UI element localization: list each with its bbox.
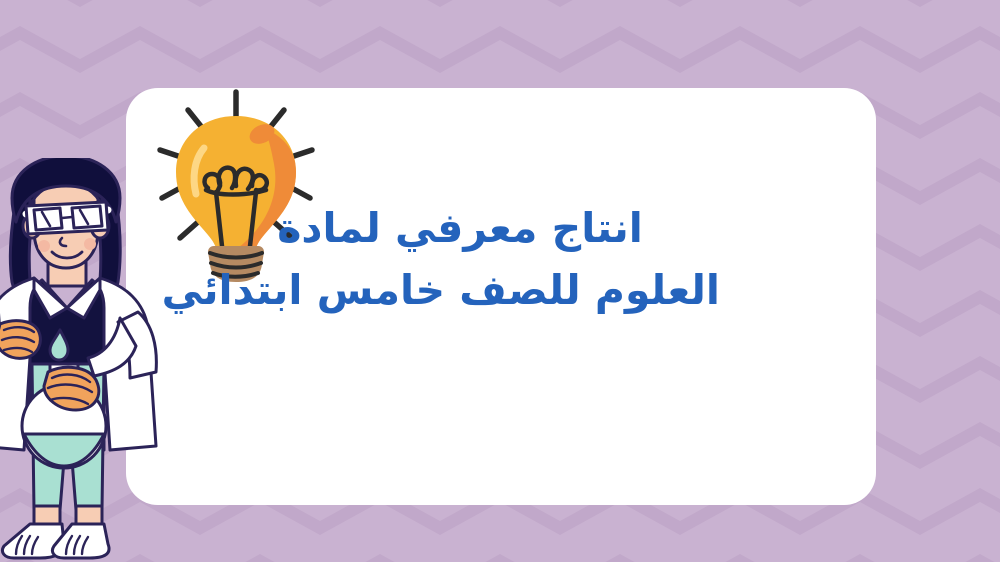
girl-scientist-illustration [0, 158, 208, 562]
title-line-1: انتاج معرفي لمادة [200, 198, 720, 260]
slide-canvas: انتاج معرفي لمادة العلوم للصف خامس ابتدا… [0, 0, 1000, 562]
title-line-2: العلوم للصف خامس ابتدائي [200, 260, 720, 322]
slide-title: انتاج معرفي لمادة العلوم للصف خامس ابتدا… [200, 198, 720, 321]
